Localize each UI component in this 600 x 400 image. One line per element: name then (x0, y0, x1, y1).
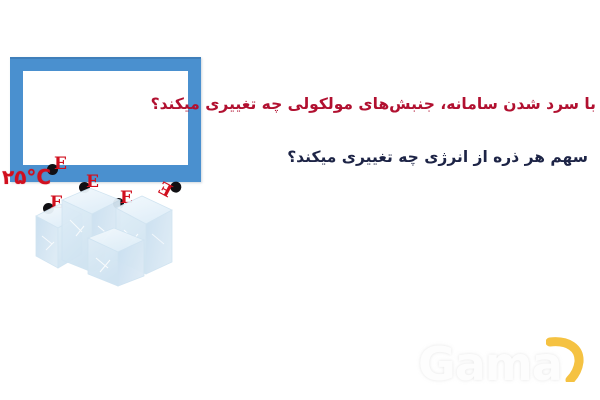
watermark: Gama (418, 338, 590, 390)
particle-energy-label: E (54, 156, 67, 173)
ice-cubes-icon (32, 186, 182, 288)
temperature-label: ۲۵°C (2, 166, 51, 188)
slide-canvas: E E E E E ۲۵°C (0, 0, 600, 400)
watermark-text: Gama (418, 338, 562, 390)
ice-cubes-illustration (32, 186, 182, 288)
system-container-interior: E E E E E (23, 71, 188, 165)
system-container-box: E E E E E (10, 57, 201, 182)
watermark-accent-arc-icon (546, 336, 586, 382)
question-line-2: سهم هر ذره از انرژی چه تغییری میکند؟ (287, 146, 588, 168)
question-line-1: با سرد شدن سامانه، جنبش‌های مولکولی چه ت… (151, 93, 596, 115)
